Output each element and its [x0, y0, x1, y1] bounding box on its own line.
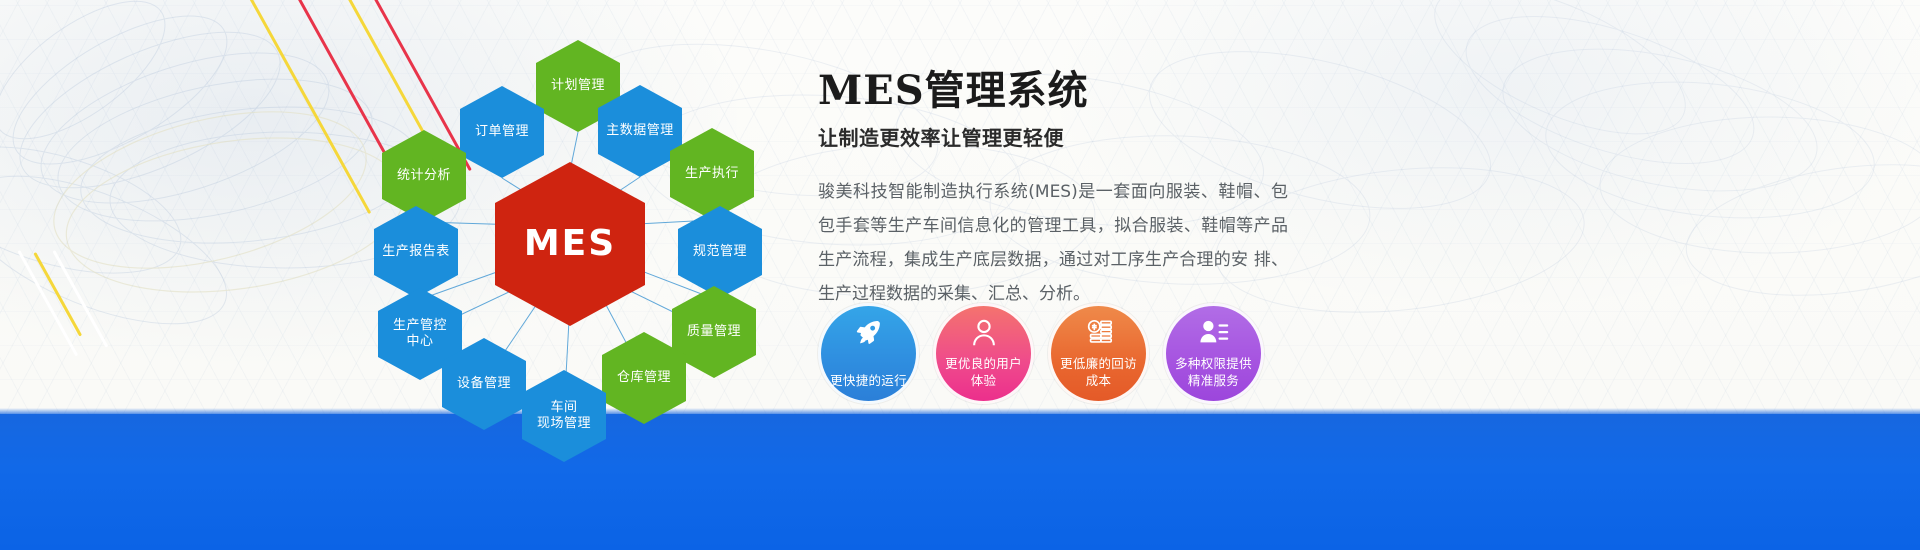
user-list-icon — [1199, 318, 1229, 348]
feature-label: 更低廉的回访成本 — [1051, 355, 1146, 389]
feature-label: 更快捷的运行 — [822, 372, 915, 389]
feature-label: 更优良的用户体验 — [936, 355, 1031, 389]
description-text: 骏美科技智能制造执行系统(MES)是一套面向服装、鞋帽、包包手套等生产车间信息化… — [818, 175, 1288, 311]
hex-core-label: MES — [524, 222, 616, 266]
hex-label: 车间现场管理 — [537, 400, 591, 432]
hex-label: 设备管理 — [457, 376, 511, 392]
hex-label: 主数据管理 — [606, 123, 674, 139]
rocket-icon — [854, 318, 884, 348]
hex-label: 订单管理 — [475, 124, 529, 140]
hex-label: 生产执行 — [685, 166, 739, 182]
hex-label: 生产报告表 — [382, 244, 450, 260]
hex-label: 质量管理 — [687, 324, 741, 340]
copy-block: MES管理系统 让制造更效率让管理更轻便 骏美科技智能制造执行系统(MES)是一… — [818, 58, 1518, 311]
page-subtitle: 让制造更效率让管理更轻便 — [818, 122, 1518, 151]
feature-badge-permission[interactable]: 多种权限提供精准服务 — [1163, 303, 1264, 404]
hex-label: 规范管理 — [693, 244, 747, 260]
feature-badge-speed[interactable]: 更快捷的运行 — [818, 303, 919, 404]
feature-label: 多种权限提供精准服务 — [1166, 355, 1261, 389]
feature-badge-cost[interactable]: 更低廉的回访成本 — [1048, 303, 1149, 404]
hex-label: 生产管控中心 — [393, 318, 447, 350]
hex-label: 计划管理 — [551, 78, 605, 94]
page-title: MES管理系统 — [818, 58, 1518, 116]
mes-hexagon-diagram: 计划管理 订单管理 主数据管理 统计分析 生产执行 生产报告表 规范管理 生产管… — [330, 20, 800, 440]
feature-badges: 更快捷的运行 更优良的用户体验 — [818, 303, 1264, 404]
user-icon — [969, 318, 999, 348]
hex-label: 统计分析 — [397, 168, 451, 184]
background-bottom-band — [0, 414, 1920, 550]
hex-label: 仓库管理 — [617, 370, 671, 386]
mes-banner: 计划管理 订单管理 主数据管理 统计分析 生产执行 生产报告表 规范管理 生产管… — [0, 0, 1920, 550]
feature-badge-ux[interactable]: 更优良的用户体验 — [933, 303, 1034, 404]
coins-icon — [1084, 318, 1114, 348]
